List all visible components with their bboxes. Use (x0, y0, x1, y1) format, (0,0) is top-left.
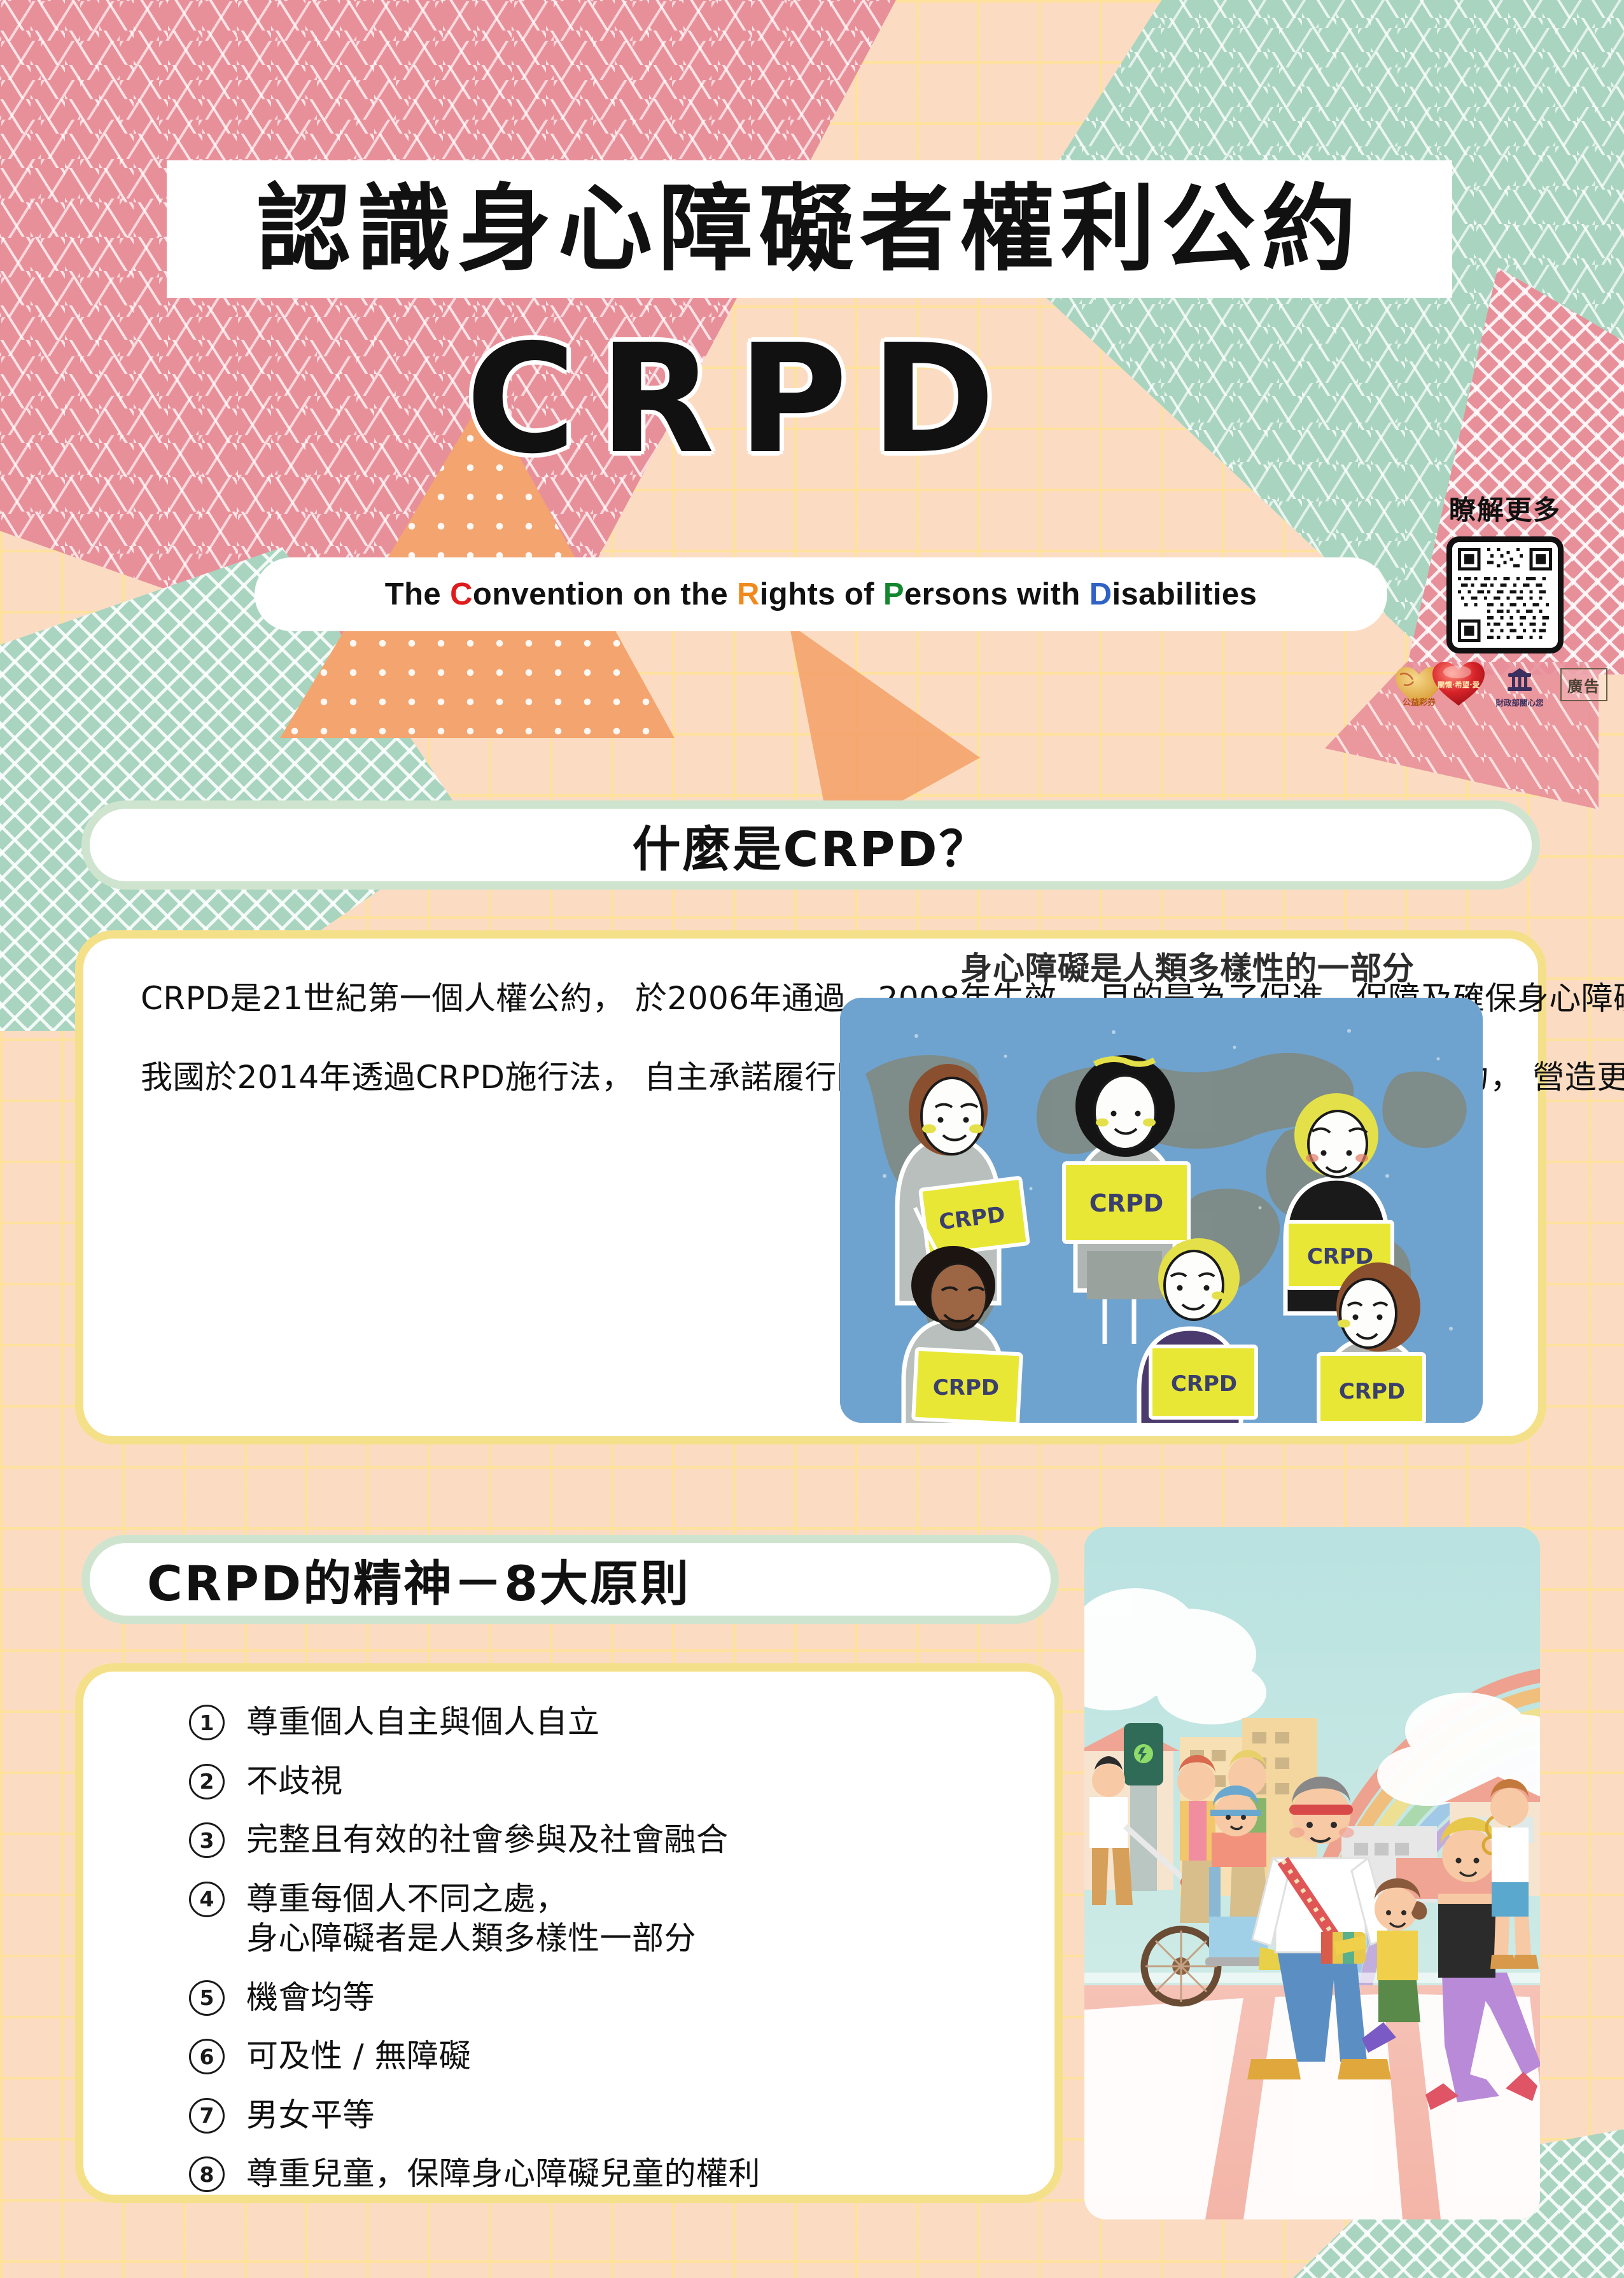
subtitle-letter-r: R (737, 577, 760, 611)
lottery-label: 公益彩券 (1403, 697, 1436, 708)
world-diversity-illustration: CRPD CRPD (840, 998, 1483, 1423)
subtitle-part-5: isabilities (1112, 577, 1257, 611)
principle-label: 機會均等 (246, 1978, 375, 2018)
principle-number: 1 (189, 1705, 225, 1740)
list-item: 8 尊重兒童，保障身心障礙兒童的權利 (189, 2154, 1016, 2194)
acronym-logo: CRPD (0, 316, 1554, 484)
world-illustration-caption: 身心障礙是人類多樣性的一部分 (888, 943, 1487, 989)
principle-label: 可及性 / 無障礙 (246, 2036, 471, 2076)
ministry-of-finance-logo: 財政部關心您 (1490, 667, 1549, 718)
sponsor-logo-row: 公益彩券 關懷·希望·愛 財政部關心您 廣告 (1387, 652, 1604, 722)
subtitle-letter-d: D (1089, 577, 1112, 611)
list-item: 2 不歧視 (189, 1761, 1016, 1801)
section-2-title: CRPD的精神－8大原則 (147, 1544, 690, 1614)
list-item: 3 完整且有效的社會參與及社會融合 (189, 1820, 1016, 1860)
principle-number: 8 (189, 2156, 225, 2192)
qr-block: 瞭解更多 (1413, 489, 1597, 653)
subtitle-english: The Convention on the Rights of Persons … (385, 576, 1257, 612)
advertisement-badge: 廣告 (1560, 668, 1607, 701)
principle-number: 5 (189, 1980, 225, 2016)
lottery-heart-logo: 公益彩券 關懷·希望·愛 (1394, 655, 1495, 716)
subtitle-part-1: The (385, 577, 450, 611)
principle-label: 尊重個人自主與個人自立 (246, 1702, 600, 1742)
principle-label: 不歧視 (246, 1761, 343, 1801)
section-1-title: 什麼是CRPD？ (632, 810, 989, 880)
principle-number: 4 (189, 1882, 225, 1917)
principle-label: 尊重兒童，保障身心障礙兒童的權利 (246, 2154, 760, 2194)
sign-text-2: CRPD (1089, 1189, 1164, 1217)
list-item: 6 可及性 / 無障礙 (189, 2036, 1016, 2076)
principles-list: 1 尊重個人自主與個人自立 2 不歧視 3 完整且有效的社會參與及社會融合 4 … (189, 1702, 1016, 2194)
street-crossing-illustration (1084, 1527, 1540, 2219)
sign-text-6: CRPD (1339, 1379, 1405, 1404)
principle-label: 尊重每個人不同之處， 身心障礙者是人類多樣性一部分 (246, 1879, 696, 1959)
intro-text-block: CRPD是21世紀第一個人權公約， 於2006年通過、2008年生效， 目的是為… (141, 974, 885, 1101)
page-title: 認識身心障礙者權利公約 (256, 182, 1362, 276)
subtitle-part-2: onvention on the (473, 577, 737, 611)
subtitle-letter-p: P (883, 577, 904, 611)
poster-title-band: 認識身心障礙者權利公約 (167, 160, 1452, 298)
principle-label: 完整且有效的社會參與及社會融合 (246, 1820, 729, 1860)
section-header-what-is-crpd: 什麼是CRPD？ (81, 800, 1540, 890)
poster-root: 認識身心障礙者權利公約 CRPD The Convention on the R… (0, 0, 1624, 2278)
list-item: 7 男女平等 (189, 2095, 1016, 2135)
list-item: 4 尊重每個人不同之處， 身心障礙者是人類多樣性一部分 (189, 1879, 1016, 1959)
list-item: 1 尊重個人自主與個人自立 (189, 1702, 1016, 1742)
qr-label: 瞭解更多 (1413, 489, 1597, 528)
heart-motto: 關懷·希望·愛 (1438, 680, 1480, 689)
subtitle-part-4: ersons with (904, 577, 1089, 611)
intro-paragraph-1: CRPD是21世紀第一個人權公約， 於2006年通過、2008年生效， 目的是為… (141, 974, 885, 1023)
principle-number: 6 (189, 2039, 225, 2074)
section-header-eight-principles: CRPD的精神－8大原則 (81, 1535, 1059, 1624)
principle-number: 7 (189, 2098, 225, 2134)
ministry-caption: 財政部關心您 (1490, 696, 1549, 708)
sign-text-5: CRPD (1171, 1371, 1237, 1397)
sign-text-4: CRPD (933, 1375, 999, 1401)
principle-number: 2 (189, 1764, 225, 1799)
subtitle-part-3: ights of (760, 577, 883, 611)
list-item: 5 機會均等 (189, 1978, 1016, 2018)
subtitle-letter-c: C (450, 577, 473, 611)
intro-paragraph-2: 我國於2014年透過CRPD施行法， 自主承諾履行國際公約規定， 期待透過公私部… (141, 1053, 885, 1101)
principles-card: 1 尊重個人自主與個人自立 2 不歧視 3 完整且有效的社會參與及社會融合 4 … (75, 1663, 1063, 2203)
qr-code[interactable] (1446, 536, 1564, 653)
principle-number: 3 (189, 1822, 225, 1858)
subtitle-pill: The Convention on the Rights of Persons … (255, 557, 1387, 631)
principle-label: 男女平等 (246, 2095, 375, 2135)
